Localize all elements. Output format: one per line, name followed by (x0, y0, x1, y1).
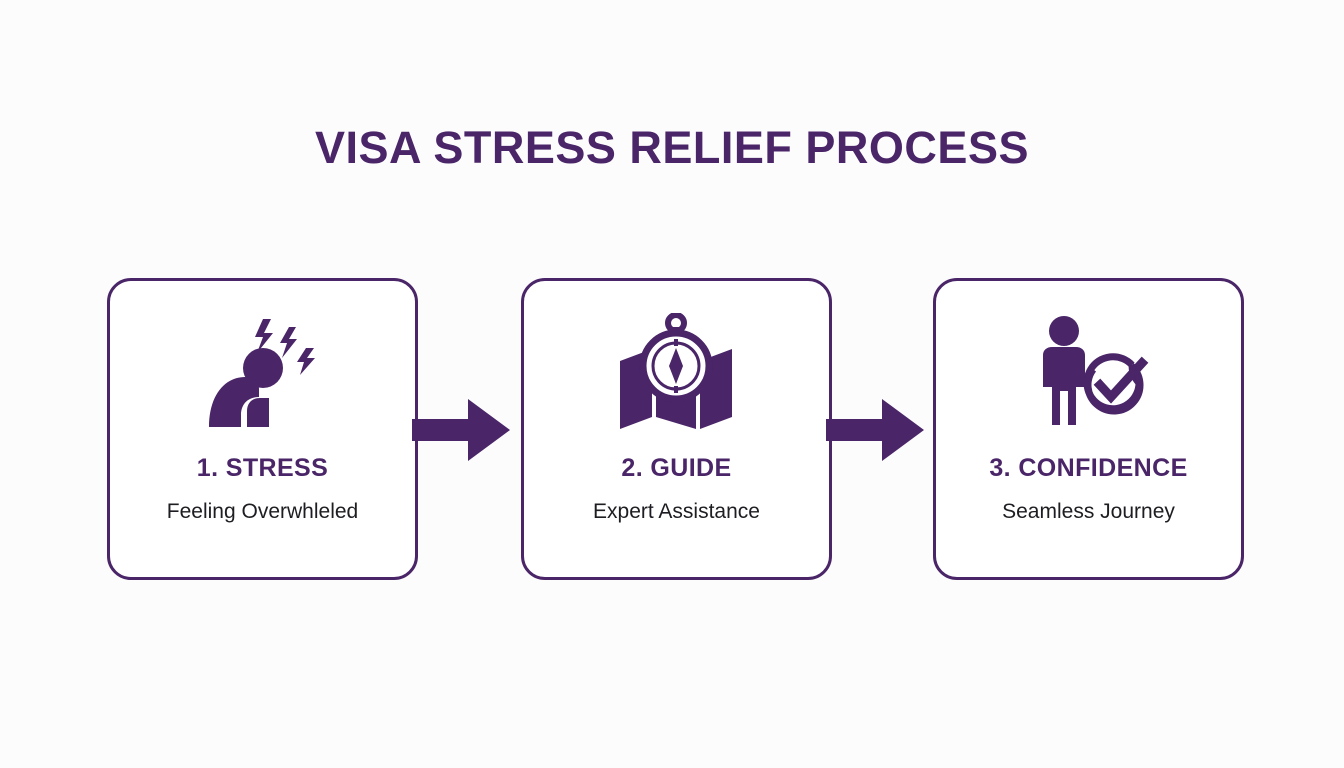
step-title: 3. CONFIDENCE (989, 453, 1187, 483)
infographic-canvas: VISA STRESS RELIEF PROCESS (0, 0, 1344, 768)
arrow-right-icon (412, 395, 512, 465)
person-check-icon (1009, 311, 1169, 433)
step-title: 2. GUIDE (621, 453, 731, 483)
step-card-stress[interactable]: 1. STRESS Feeling Overwhleled (107, 278, 418, 580)
stressed-person-icon (183, 311, 343, 433)
step-caption: Feeling Overwhleled (167, 499, 358, 525)
step-caption: Seamless Journey (1002, 499, 1175, 525)
page-title: VISA STRESS RELIEF PROCESS (0, 118, 1344, 178)
map-compass-icon (597, 311, 757, 433)
process-flow: 1. STRESS Feeling Overwhleled (0, 278, 1344, 582)
step-title: 1. STRESS (197, 453, 328, 483)
step-card-confidence[interactable]: 3. CONFIDENCE Seamless Journey (933, 278, 1244, 580)
step-caption: Expert Assistance (593, 499, 760, 525)
arrow-right-icon (826, 395, 926, 465)
step-card-guide[interactable]: 2. GUIDE Expert Assistance (521, 278, 832, 580)
